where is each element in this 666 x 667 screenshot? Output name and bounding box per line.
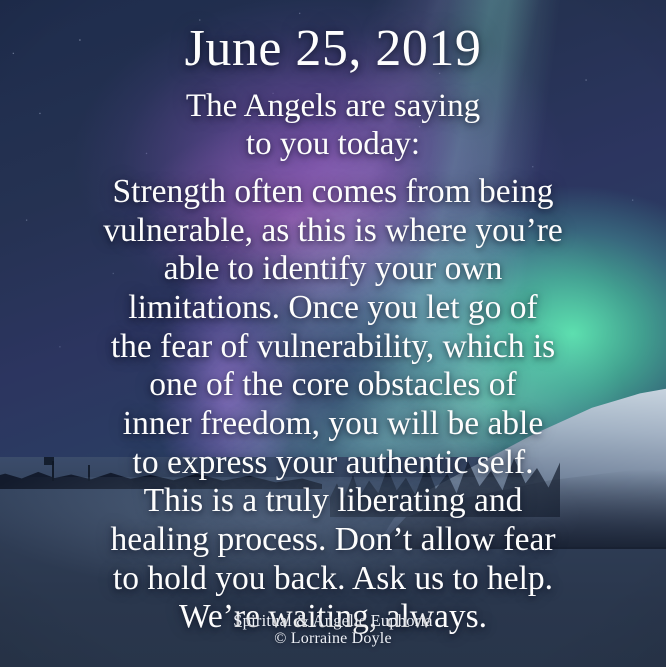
credit-source: Spiritual & Angelic Euphoria [0,611,666,630]
message-line: to express your authentic self. [0,444,666,483]
credit-copyright: © Lorraine Doyle [0,630,666,649]
credit-block: Spiritual & Angelic Euphoria © Lorraine … [0,611,666,649]
intro-block: The Angels are saying to you today: [0,87,666,164]
message-line: to hold you back. Ask us to help. [0,560,666,599]
quote-text-overlay: June 25, 2019 The Angels are saying to y… [0,0,666,667]
message-line: healing process. Don’t allow fear [0,521,666,560]
message-line: one of the core obstacles of [0,366,666,405]
quote-card: June 25, 2019 The Angels are saying to y… [0,0,666,667]
message-line: limitations. Once you let go of [0,289,666,328]
message-line: inner freedom, you will be able [0,405,666,444]
message-body: Strength often comes from being vulnerab… [0,173,666,637]
message-line: Strength often comes from being [0,173,666,212]
message-line: the fear of vulnerability, which is [0,328,666,367]
date-heading: June 25, 2019 [0,22,666,77]
message-line: able to identify your own [0,250,666,289]
message-line: vulnerable, as this is where you’re [0,212,666,251]
intro-line: to you today: [0,125,666,164]
intro-line: The Angels are saying [0,87,666,126]
message-line: This is a truly liberating and [0,482,666,521]
